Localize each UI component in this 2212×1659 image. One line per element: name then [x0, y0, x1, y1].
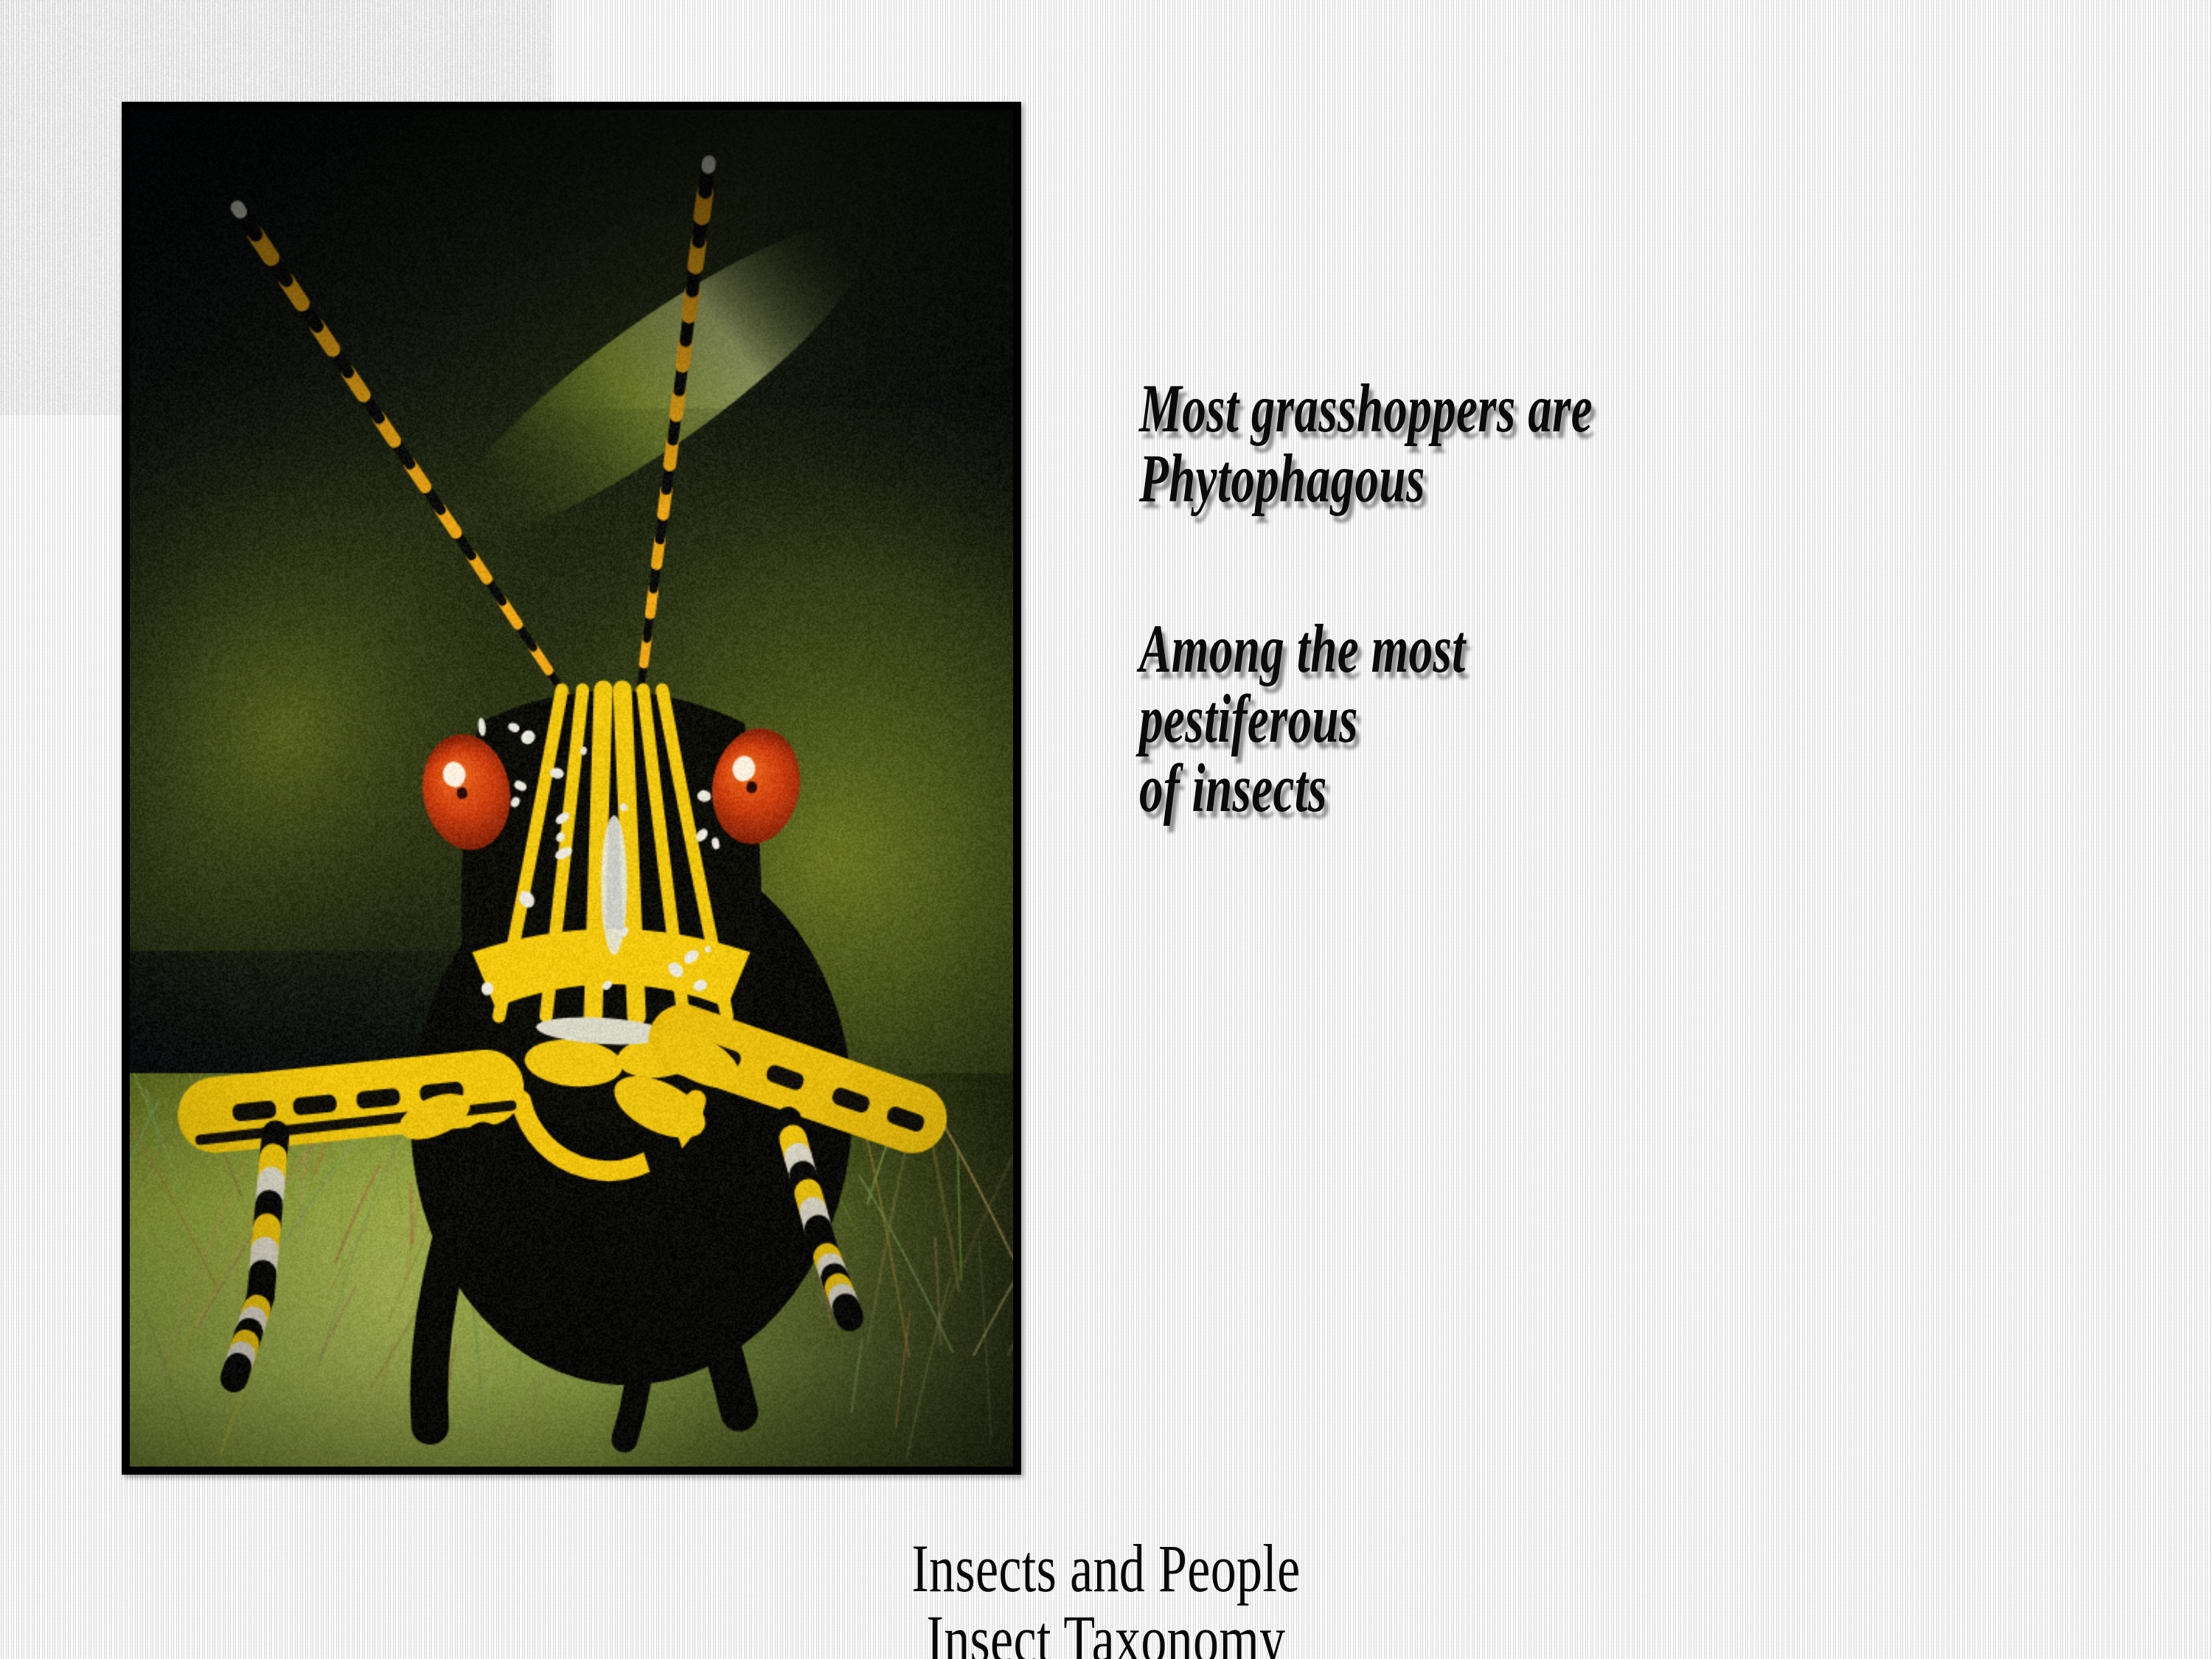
footer-course-title: Insects and People — [265, 1534, 1947, 1604]
paragraph-pestiferous: Among the most pestiferous of insects — [1139, 615, 2110, 825]
slide-canvas: Most grasshoppers are Phytophagous Among… — [0, 0, 2212, 1659]
grasshopper-photograph — [130, 110, 1013, 1467]
slide-footer: Insects and People Insect Taxonomy — [0, 1534, 2212, 1659]
paragraph-phytophagous: Most grasshoppers are Phytophagous — [1139, 375, 2110, 515]
footer-topic-title: Insect Taxonomy — [265, 1604, 1947, 1659]
grasshopper-photo-frame — [122, 102, 1021, 1475]
body-text-block: Most grasshoppers are Phytophagous Among… — [1139, 375, 2112, 824]
